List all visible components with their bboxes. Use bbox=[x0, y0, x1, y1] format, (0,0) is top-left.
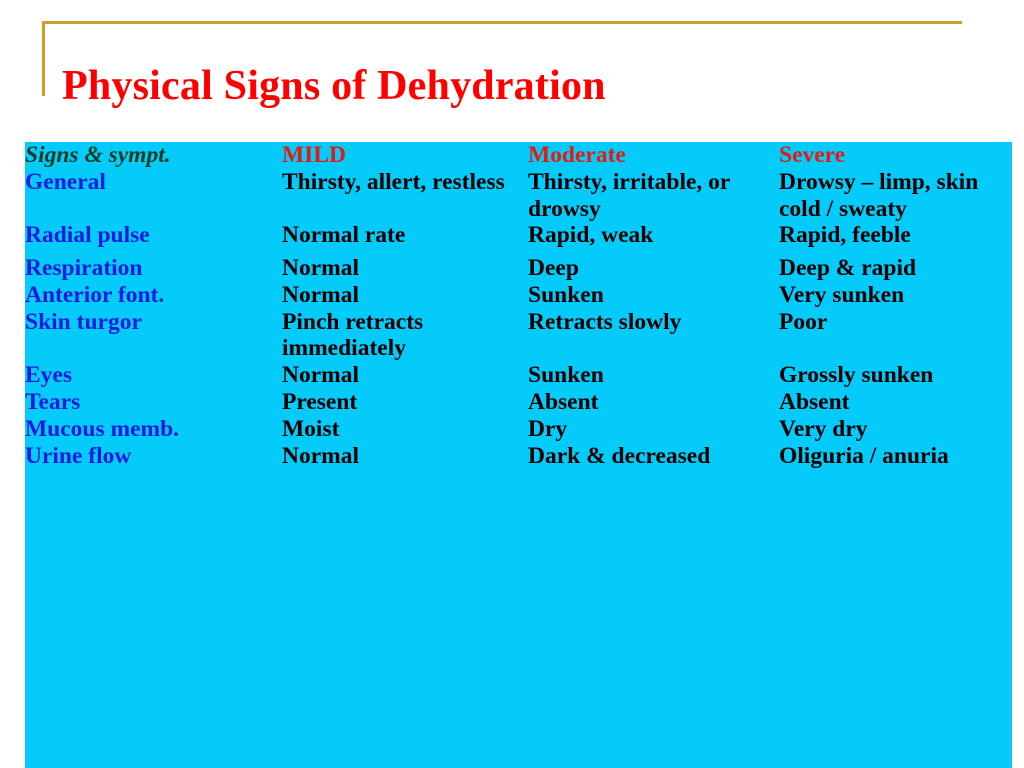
cell-mild: Normal bbox=[282, 443, 528, 470]
row-label: Radial pulse bbox=[25, 222, 282, 249]
cell-mild: Normal rate bbox=[282, 222, 528, 249]
table-row: Mucous memb. Moist Dry Very dry bbox=[25, 416, 1012, 443]
table-row: Respiration Normal Deep Deep & rapid bbox=[25, 255, 1012, 282]
table-row: Skin turgor Pinch retracts immediately R… bbox=[25, 309, 1012, 363]
column-header-signs: Signs & sympt. bbox=[25, 142, 282, 169]
table-row: Anterior font. Normal Sunken Very sunken bbox=[25, 282, 1012, 309]
cell-mild: Present bbox=[282, 389, 528, 416]
cell-moderate: Absent bbox=[528, 389, 779, 416]
cell-moderate: Retracts slowly bbox=[528, 309, 779, 363]
row-label: Respiration bbox=[25, 255, 282, 282]
cell-severe: Very dry bbox=[779, 416, 1012, 443]
row-label: Skin turgor bbox=[25, 309, 282, 363]
cell-moderate: Sunken bbox=[528, 362, 779, 389]
cell-severe: Grossly sunken bbox=[779, 362, 1012, 389]
table-header-row: Signs & sympt. MILD Moderate Severe bbox=[25, 142, 1012, 169]
cell-severe: Drowsy – limp, skin cold / sweaty bbox=[779, 169, 1012, 223]
cell-mild: Moist bbox=[282, 416, 528, 443]
cell-mild: Pinch retracts immediately bbox=[282, 309, 528, 363]
row-label: Mucous memb. bbox=[25, 416, 282, 443]
title-rule-top-icon bbox=[42, 21, 962, 24]
table-row: Urine flow Normal Dark & decreased Oligu… bbox=[25, 443, 1012, 470]
row-label: General bbox=[25, 169, 282, 223]
content-panel: Signs & sympt. MILD Moderate Severe Gene… bbox=[25, 142, 1012, 768]
column-header-severe: Severe bbox=[779, 142, 1012, 169]
cell-moderate: Deep bbox=[528, 255, 779, 282]
column-header-mild: MILD bbox=[282, 142, 528, 169]
cell-severe: Deep & rapid bbox=[779, 255, 1012, 282]
cell-moderate: Sunken bbox=[528, 282, 779, 309]
table-row: Radial pulse Normal rate Rapid, weak Rap… bbox=[25, 222, 1012, 249]
cell-moderate: Dry bbox=[528, 416, 779, 443]
title-rule-left-icon bbox=[42, 21, 45, 96]
cell-mild: Normal bbox=[282, 362, 528, 389]
cell-moderate: Dark & decreased bbox=[528, 443, 779, 470]
cell-moderate: Thirsty, irritable, or drowsy bbox=[528, 169, 779, 223]
row-label: Urine flow bbox=[25, 443, 282, 470]
slide-canvas: Physical Signs of Dehydration Signs & sy… bbox=[0, 0, 1024, 768]
cell-mild: Thirsty, allert, restless bbox=[282, 169, 528, 223]
cell-severe: Rapid, feeble bbox=[779, 222, 1012, 249]
row-label: Anterior font. bbox=[25, 282, 282, 309]
table-row: Tears Present Absent Absent bbox=[25, 389, 1012, 416]
table-row: Eyes Normal Sunken Grossly sunken bbox=[25, 362, 1012, 389]
cell-mild: Normal bbox=[282, 255, 528, 282]
cell-severe: Oliguria / anuria bbox=[779, 443, 1012, 470]
cell-severe: Poor bbox=[779, 309, 1012, 363]
dehydration-signs-table: Signs & sympt. MILD Moderate Severe Gene… bbox=[25, 142, 1012, 469]
cell-severe: Absent bbox=[779, 389, 1012, 416]
table-row: General Thirsty, allert, restless Thirst… bbox=[25, 169, 1012, 223]
page-title: Physical Signs of Dehydration bbox=[62, 62, 962, 112]
row-label: Eyes bbox=[25, 362, 282, 389]
cell-severe: Very sunken bbox=[779, 282, 1012, 309]
cell-moderate: Rapid, weak bbox=[528, 222, 779, 249]
row-label: Tears bbox=[25, 389, 282, 416]
column-header-moderate: Moderate bbox=[528, 142, 779, 169]
cell-mild: Normal bbox=[282, 282, 528, 309]
